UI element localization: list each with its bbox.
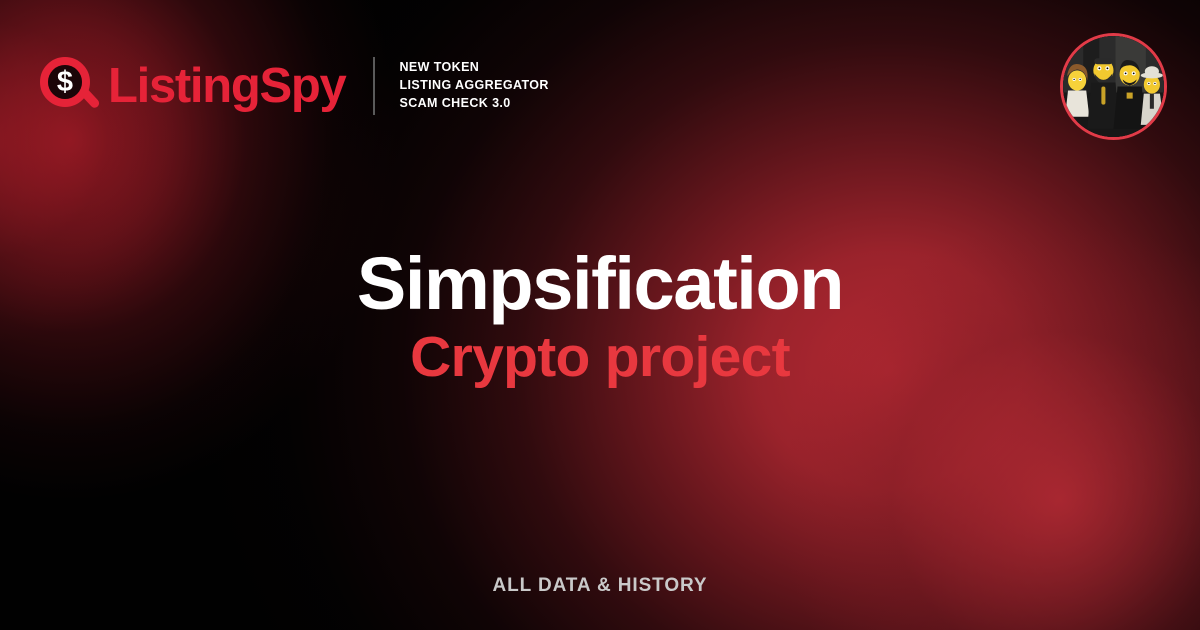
magnifier-dollar-icon: $ [38, 55, 100, 117]
page-subtitle: Crypto project [0, 327, 1200, 389]
hero-block: Simpsification Crypto project [0, 246, 1200, 389]
dollar-sign-icon: $ [48, 64, 82, 100]
header-divider [373, 57, 375, 115]
avatar[interactable] [1060, 33, 1167, 140]
banner-canvas: $ ListingSpy NEW TOKEN LISTING AGGREGATO… [0, 0, 1200, 630]
page-title: Simpsification [0, 246, 1200, 323]
brand-logo[interactable]: $ ListingSpy [38, 55, 345, 117]
tagline-line-1: NEW TOKEN [399, 59, 548, 77]
background-glow-bottom-right-core [710, 150, 1200, 630]
brand-tagline: NEW TOKEN LISTING AGGREGATOR SCAM CHECK … [399, 59, 548, 112]
header: $ ListingSpy NEW TOKEN LISTING AGGREGATO… [38, 55, 549, 117]
brand-wordmark: ListingSpy [108, 62, 345, 111]
tagline-line-2: LISTING AGGREGATOR [399, 77, 548, 95]
footer-text: ALL DATA & HISTORY [0, 575, 1200, 597]
avatar-image [1063, 36, 1164, 137]
tagline-line-3: SCAM CHECK 3.0 [399, 95, 548, 113]
